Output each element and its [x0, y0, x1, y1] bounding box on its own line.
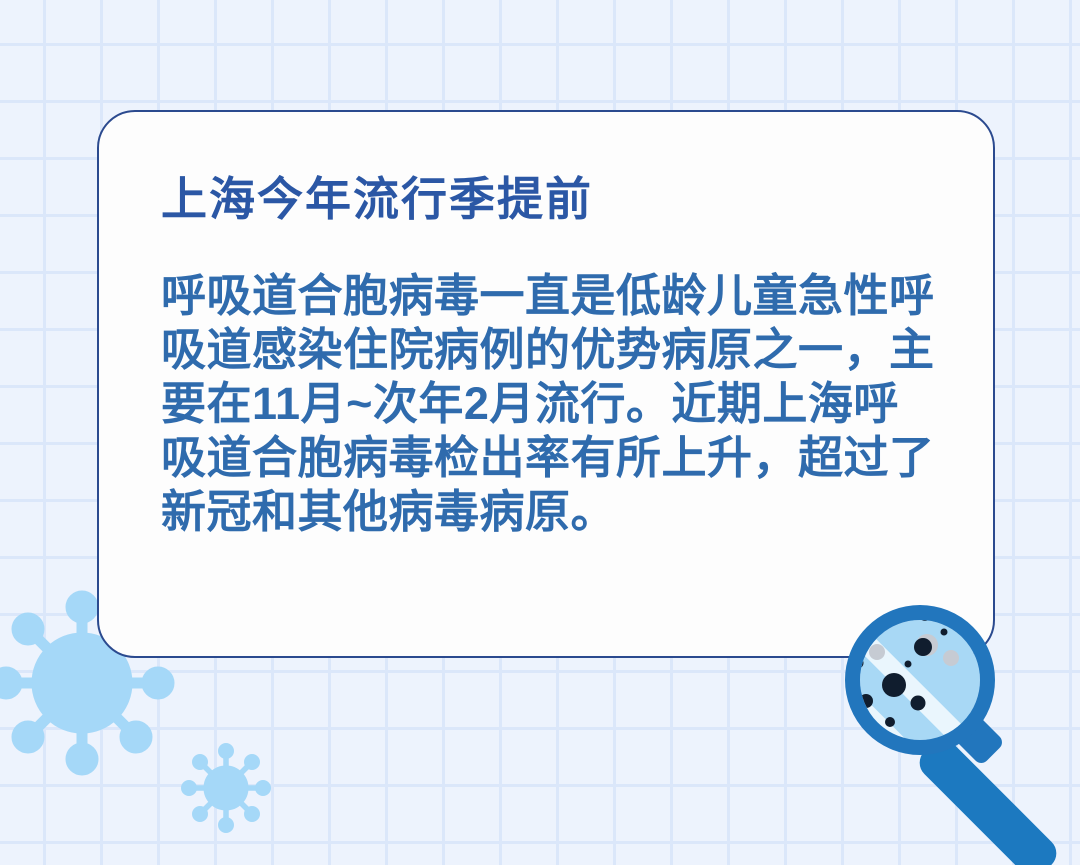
infographic-canvas: 上海今年流行季提前 呼吸道合胞病毒一直是低龄儿童急性呼 吸道感染住院病例的优势病… — [0, 0, 1080, 865]
card-content: 上海今年流行季提前 呼吸道合胞病毒一直是低龄儿童急性呼 吸道感染住院病例的优势病… — [161, 174, 945, 539]
body-line: 吸道感染住院病例的优势病原之一，主 — [161, 323, 961, 377]
body-line: 呼吸道合胞病毒一直是低龄儿童急性呼 — [161, 269, 961, 323]
body-line: 要在11月~次年2月流行。近期上海呼 — [161, 377, 961, 431]
body-paragraph: 呼吸道合胞病毒一直是低龄儿童急性呼 吸道感染住院病例的优势病原之一，主 要在11… — [161, 269, 961, 539]
content-card: 上海今年流行季提前 呼吸道合胞病毒一直是低龄儿童急性呼 吸道感染住院病例的优势病… — [97, 110, 995, 658]
body-line: 吸道合胞病毒检出率有所上升，超过了 — [161, 431, 961, 485]
body-line: 新冠和其他病毒病原。 — [161, 485, 961, 539]
page-title: 上海今年流行季提前 — [161, 174, 945, 225]
